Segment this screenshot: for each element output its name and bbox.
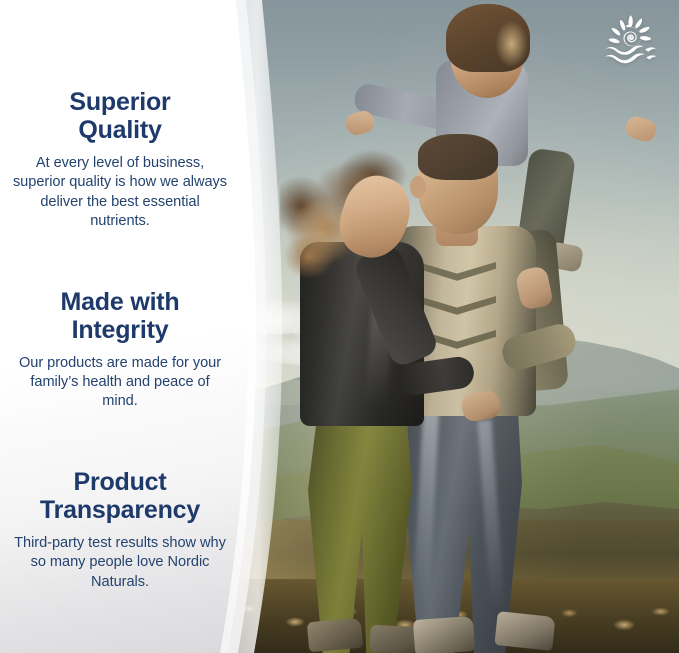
value-prop-body: At every level of business, superior qua… [11,154,229,232]
hiking-boot [494,611,555,651]
heading-line-1: Made with [60,288,179,316]
value-prop-body: Our products are made for your family’s … [11,354,229,412]
heading-line-1: Superior [69,88,170,116]
man-ear [410,176,426,198]
heading-line-2: Transparency [40,496,200,524]
hiking-boot [413,616,475,653]
value-prop-made-with-integrity: Made with Integrity Our products are mad… [11,288,229,412]
value-prop-heading: Product Transparency [11,468,229,524]
value-prop-body: Third-party test results show why so man… [11,534,229,592]
value-props: Superior Quality At every level of busin… [0,0,240,653]
child-hair-highlight [494,12,538,76]
heading-line-2: Integrity [72,316,169,344]
man-hair [418,134,498,180]
value-prop-heading: Made with Integrity [11,288,229,344]
heading-line-2: Quality [78,116,161,144]
value-prop-superior-quality: Superior Quality At every level of busin… [11,88,229,232]
hiking-boot [307,618,363,653]
woman-hair-highlight [288,186,374,278]
sun-over-waves-logo-icon [599,13,661,65]
brand-panel-stage: Superior Quality At every level of busin… [0,0,679,653]
value-prop-product-transparency: Product Transparency Third-party test re… [11,468,229,592]
lifestyle-photo [222,0,679,653]
value-prop-heading: Superior Quality [11,88,229,144]
heading-line-1: Product [73,468,166,496]
